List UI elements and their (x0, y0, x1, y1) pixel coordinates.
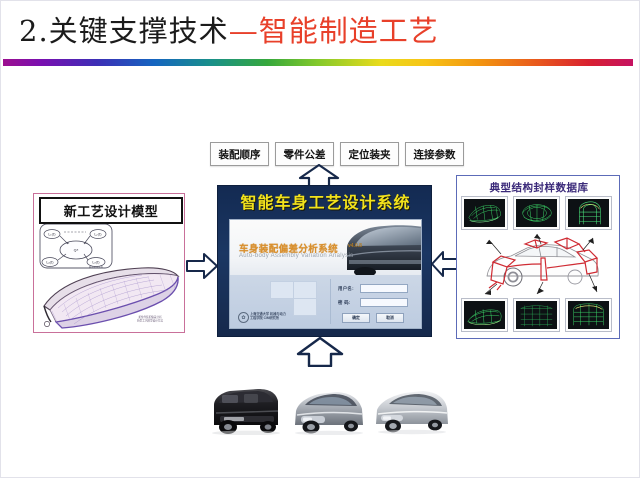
title-index: 2. (19, 14, 49, 48)
svg-text:偏差传递关系: 偏差传递关系 (89, 265, 104, 269)
splash-product-name-en: Auto-body Assembly Variation Analysis (239, 253, 353, 259)
university-logo-icon: ✿ (238, 312, 249, 323)
center-panel-title: 智能车身工艺设计系统 (218, 191, 433, 215)
page-title: 2.关键支撑技术—智能制造工艺 (19, 9, 619, 53)
process-box-part-tolerance[interactable]: 零件公差 (275, 142, 334, 166)
process-box-locating-fixture[interactable]: 定位装夹 (340, 142, 399, 166)
center-system-panel: 智能车身工艺设计系统 (217, 185, 432, 337)
left-panel-header: 新工艺设计模型 (39, 197, 183, 224)
database-center-car-model (471, 232, 611, 296)
vehicle-photo-sedan (289, 383, 369, 435)
arrow-right-model-to-system-icon (186, 253, 218, 279)
username-input[interactable] (360, 284, 408, 293)
thumbnail-0[interactable] (461, 196, 508, 230)
login-ok-button[interactable]: 确定 (342, 313, 370, 323)
svg-text:L₂(t): L₂(t) (94, 233, 102, 237)
software-splash-screen[interactable]: 车身装配偏差分析系统 v4.0.8 Auto-body Assembly Var… (229, 219, 422, 329)
svg-text:L₃(t): L₃(t) (92, 261, 100, 265)
password-input[interactable] (360, 298, 408, 307)
process-box-assembly-sequence[interactable]: 装配顺序 (210, 142, 269, 166)
thumbnail-5[interactable] (565, 298, 612, 332)
svg-text:L₁(t): L₁(t) (48, 233, 56, 237)
svg-text:L₄(t): L₄(t) (46, 261, 54, 265)
svg-text:新型工艺模型设计方法: 新型工艺模型设计方法 (137, 319, 163, 323)
splash-tile-2 (293, 281, 317, 299)
splash-version: v4.0.8 (348, 243, 362, 249)
title-dash: — (229, 14, 259, 48)
thumbnail-2[interactable] (565, 196, 612, 230)
arrow-up-from-vehicles-icon (295, 337, 345, 367)
splash-divider (330, 279, 331, 324)
thumbnail-4[interactable] (513, 298, 560, 332)
title-accent: 智能制造工艺 (259, 14, 439, 48)
org-line-2: 工程学院 CIM研究所 (250, 316, 286, 320)
svg-text:柔性件装配偏差分析: 柔性件装配偏差分析 (138, 315, 162, 319)
right-panel-header: 典型结构封样数据库 (457, 180, 621, 195)
username-label: 用户名: (338, 286, 354, 292)
new-process-design-model-figure: L₁(t) L₂(t) L₄(t) L₃(t) Q* δ₁ δ₂ 偏差传递关系 (34, 220, 184, 332)
vehicle-photo-suv (206, 383, 286, 435)
process-box-joining-parameter[interactable]: 连接参数 (405, 142, 464, 166)
password-label: 密 码: (338, 300, 351, 306)
login-cancel-button[interactable]: 取消 (376, 313, 404, 323)
typical-structure-database-panel: 典型结构封样数据库 (456, 175, 620, 339)
thumbnail-1[interactable] (513, 196, 560, 230)
splash-tile-1 (270, 281, 294, 299)
title-main: 关键支撑技术 (49, 14, 229, 48)
splash-header-area: 车身装配偏差分析系统 v4.0.8 Auto-body Assembly Var… (230, 220, 421, 275)
splash-org-text: 上海交通大学 机械与动力 工程学院 CIM研究所 (250, 312, 286, 321)
splash-tile-3 (293, 298, 317, 316)
slide-canvas: 2.关键支撑技术—智能制造工艺 装配顺序 零件公差 定位装夹 连接参数 新工艺设… (0, 0, 640, 478)
splash-login-area: 用户名: 密 码: 确定 取消 ✿ 上海交通大学 机械与动力 工程学院 CIM研… (230, 275, 421, 329)
vehicle-photo-hatchback (371, 383, 453, 435)
thumbnail-3[interactable] (461, 298, 508, 332)
rainbow-divider (3, 59, 633, 66)
svg-text:Q*: Q* (74, 249, 79, 253)
